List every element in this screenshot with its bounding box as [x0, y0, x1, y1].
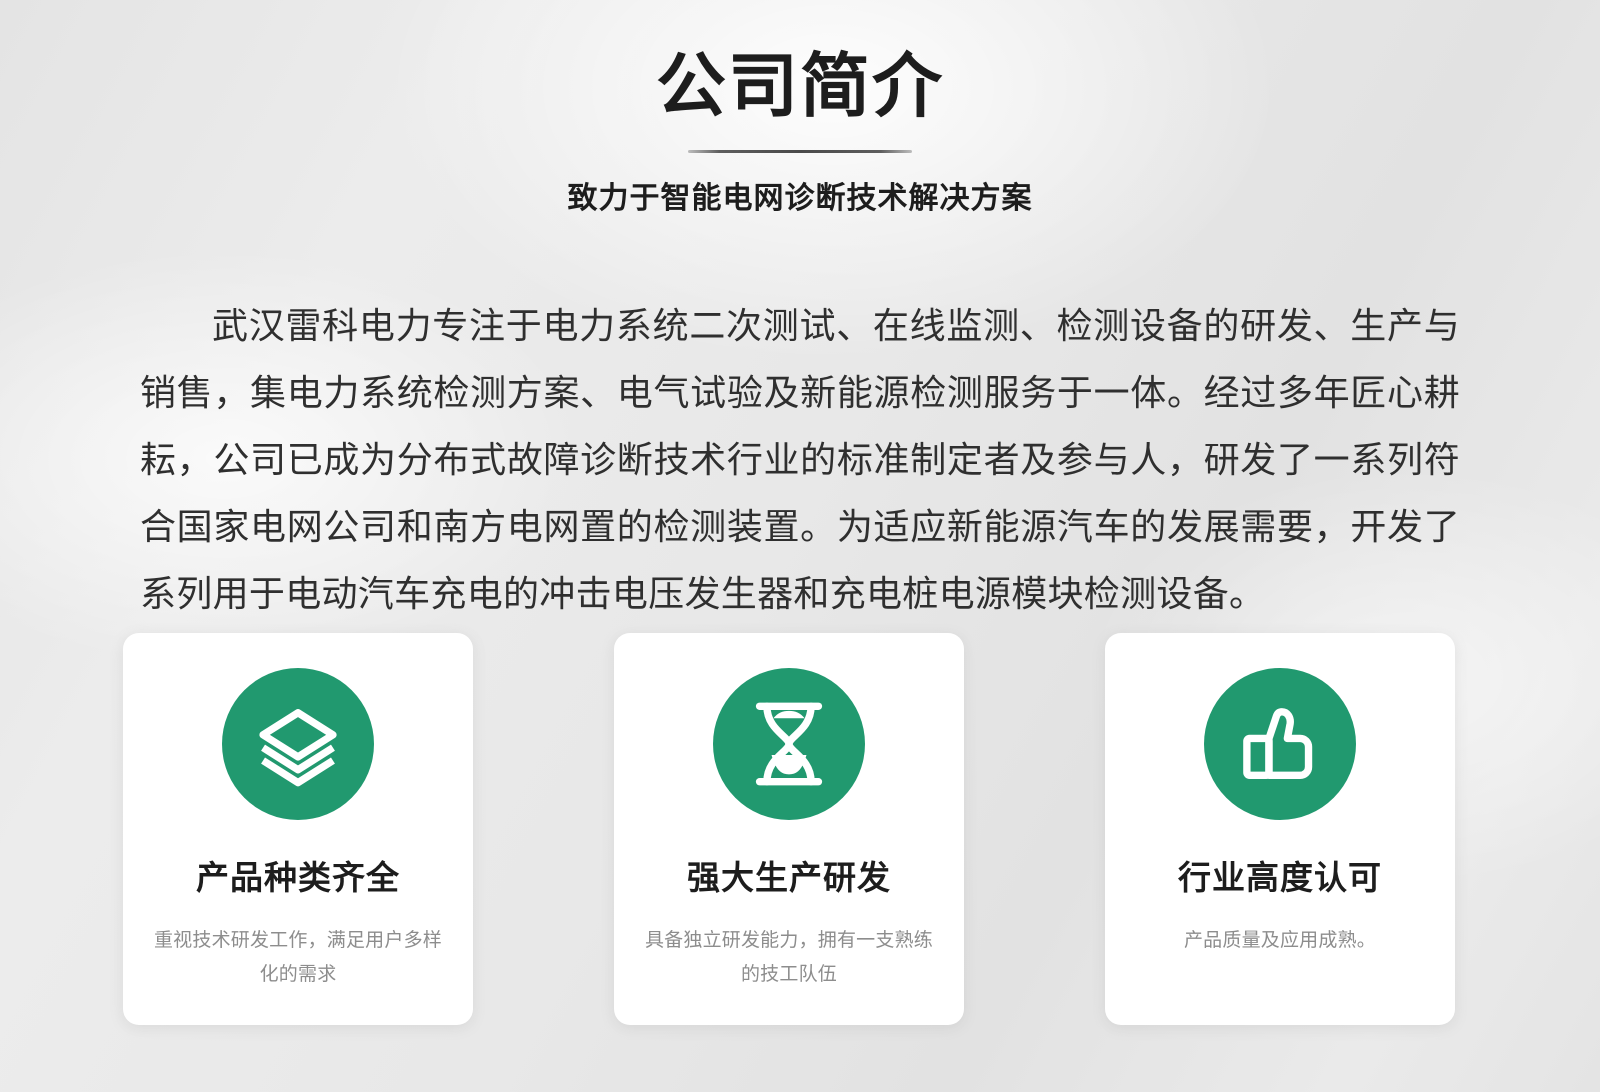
feature-card-description: 产品质量及应用成熟。 [1134, 898, 1426, 958]
feature-card-list: 产品种类齐全 重视技术研发工作，满足用户多样化的需求 强大生产研发 具备独立研发… [123, 633, 1455, 1025]
feature-card[interactable]: 产品种类齐全 重视技术研发工作，满足用户多样化的需求 [123, 633, 473, 1025]
company-intro-paragraph: 武汉雷科电力专注于电力系统二次测试、在线监测、检测设备的研发、生产与销售，集电力… [140, 292, 1460, 627]
hourglass-icon [713, 668, 865, 820]
feature-card-title: 行业高度认可 [1178, 820, 1382, 898]
page-header: 公司简介 致力于智能电网诊断技术解决方案 [0, 0, 1600, 219]
feature-card[interactable]: 强大生产研发 具备独立研发能力，拥有一支熟练的技工队伍 [614, 633, 964, 1025]
feature-card-description: 具备独立研发能力，拥有一支熟练的技工队伍 [643, 898, 935, 992]
page-title: 公司简介 [0, 0, 1600, 128]
feature-card-description: 重视技术研发工作，满足用户多样化的需求 [152, 898, 444, 992]
layers-icon [222, 668, 374, 820]
company-profile-page: 公司简介 致力于智能电网诊断技术解决方案 武汉雷科电力专注于电力系统二次测试、在… [0, 0, 1600, 1092]
feature-card[interactable]: 行业高度认可 产品质量及应用成熟。 [1105, 633, 1455, 1025]
feature-card-title: 强大生产研发 [687, 820, 891, 898]
feature-card-title: 产品种类齐全 [196, 820, 400, 898]
page-subtitle: 致力于智能电网诊断技术解决方案 [0, 153, 1600, 219]
thumbs-up-icon [1204, 668, 1356, 820]
